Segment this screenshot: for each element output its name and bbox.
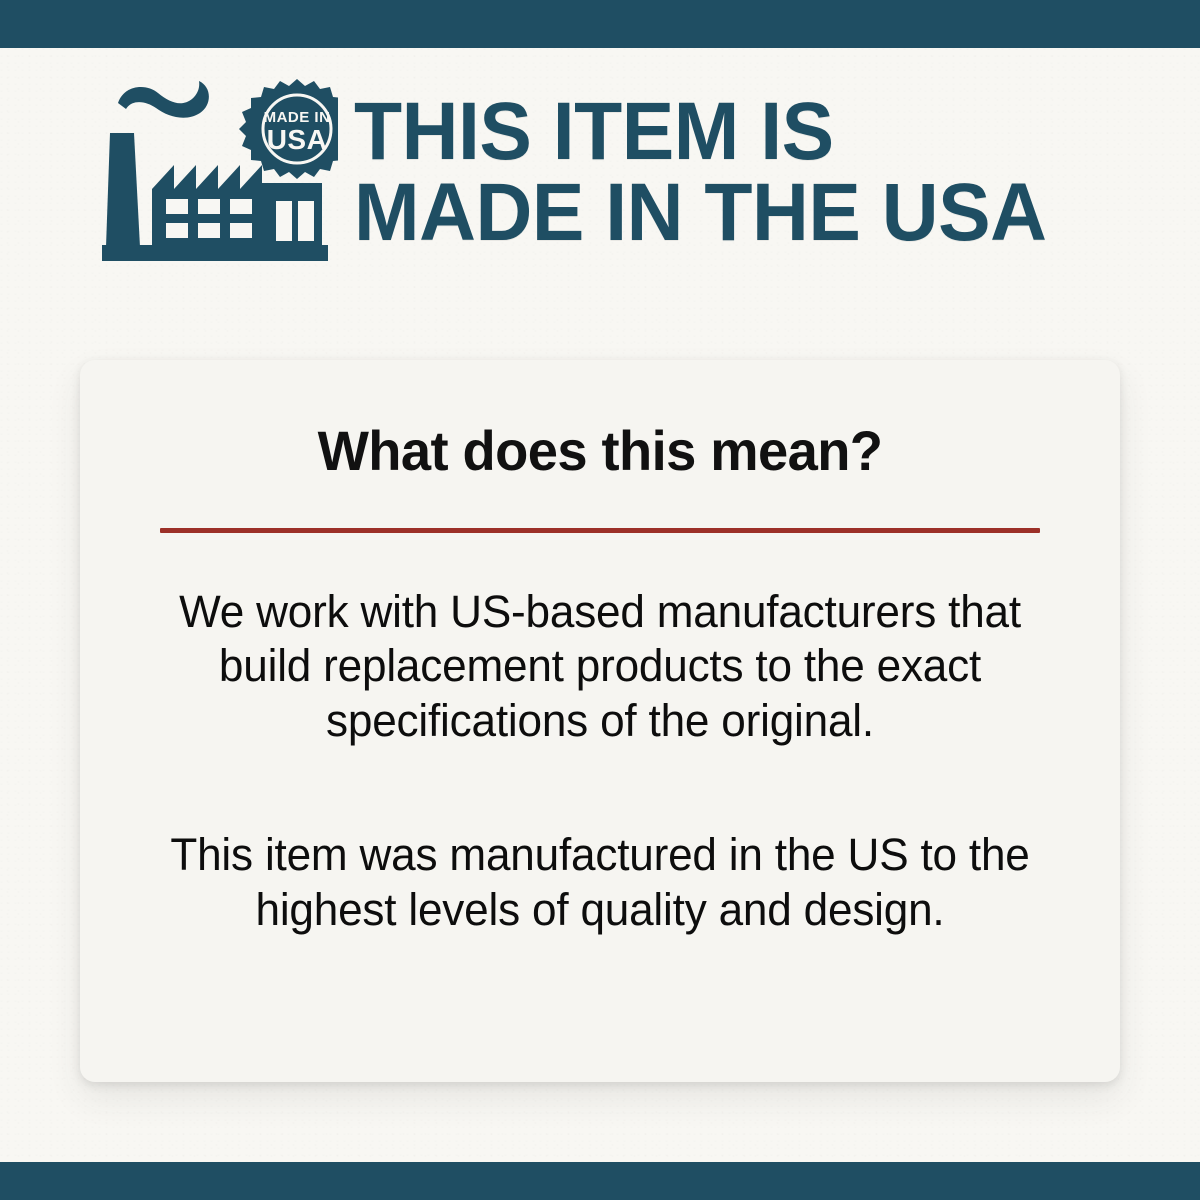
top-accent-band: [0, 0, 1200, 48]
info-card: What does this mean? We work with US-bas…: [80, 360, 1120, 1082]
card-paragraph-2: This item was manufactured in the US to …: [169, 828, 1031, 937]
seal-line-2: USA: [267, 124, 328, 155]
card-paragraph-1: We work with US-based manufacturers that…: [169, 585, 1031, 748]
header: MADE IN USA THIS ITEM IS MADE IN THE USA: [0, 52, 1200, 292]
card-title: What does this mean?: [134, 422, 1065, 481]
factory-icon: MADE IN USA: [100, 77, 338, 267]
page-title: THIS ITEM IS MADE IN THE USA: [354, 91, 1047, 253]
bottom-accent-band: [0, 1162, 1200, 1200]
title-divider: [160, 528, 1040, 533]
